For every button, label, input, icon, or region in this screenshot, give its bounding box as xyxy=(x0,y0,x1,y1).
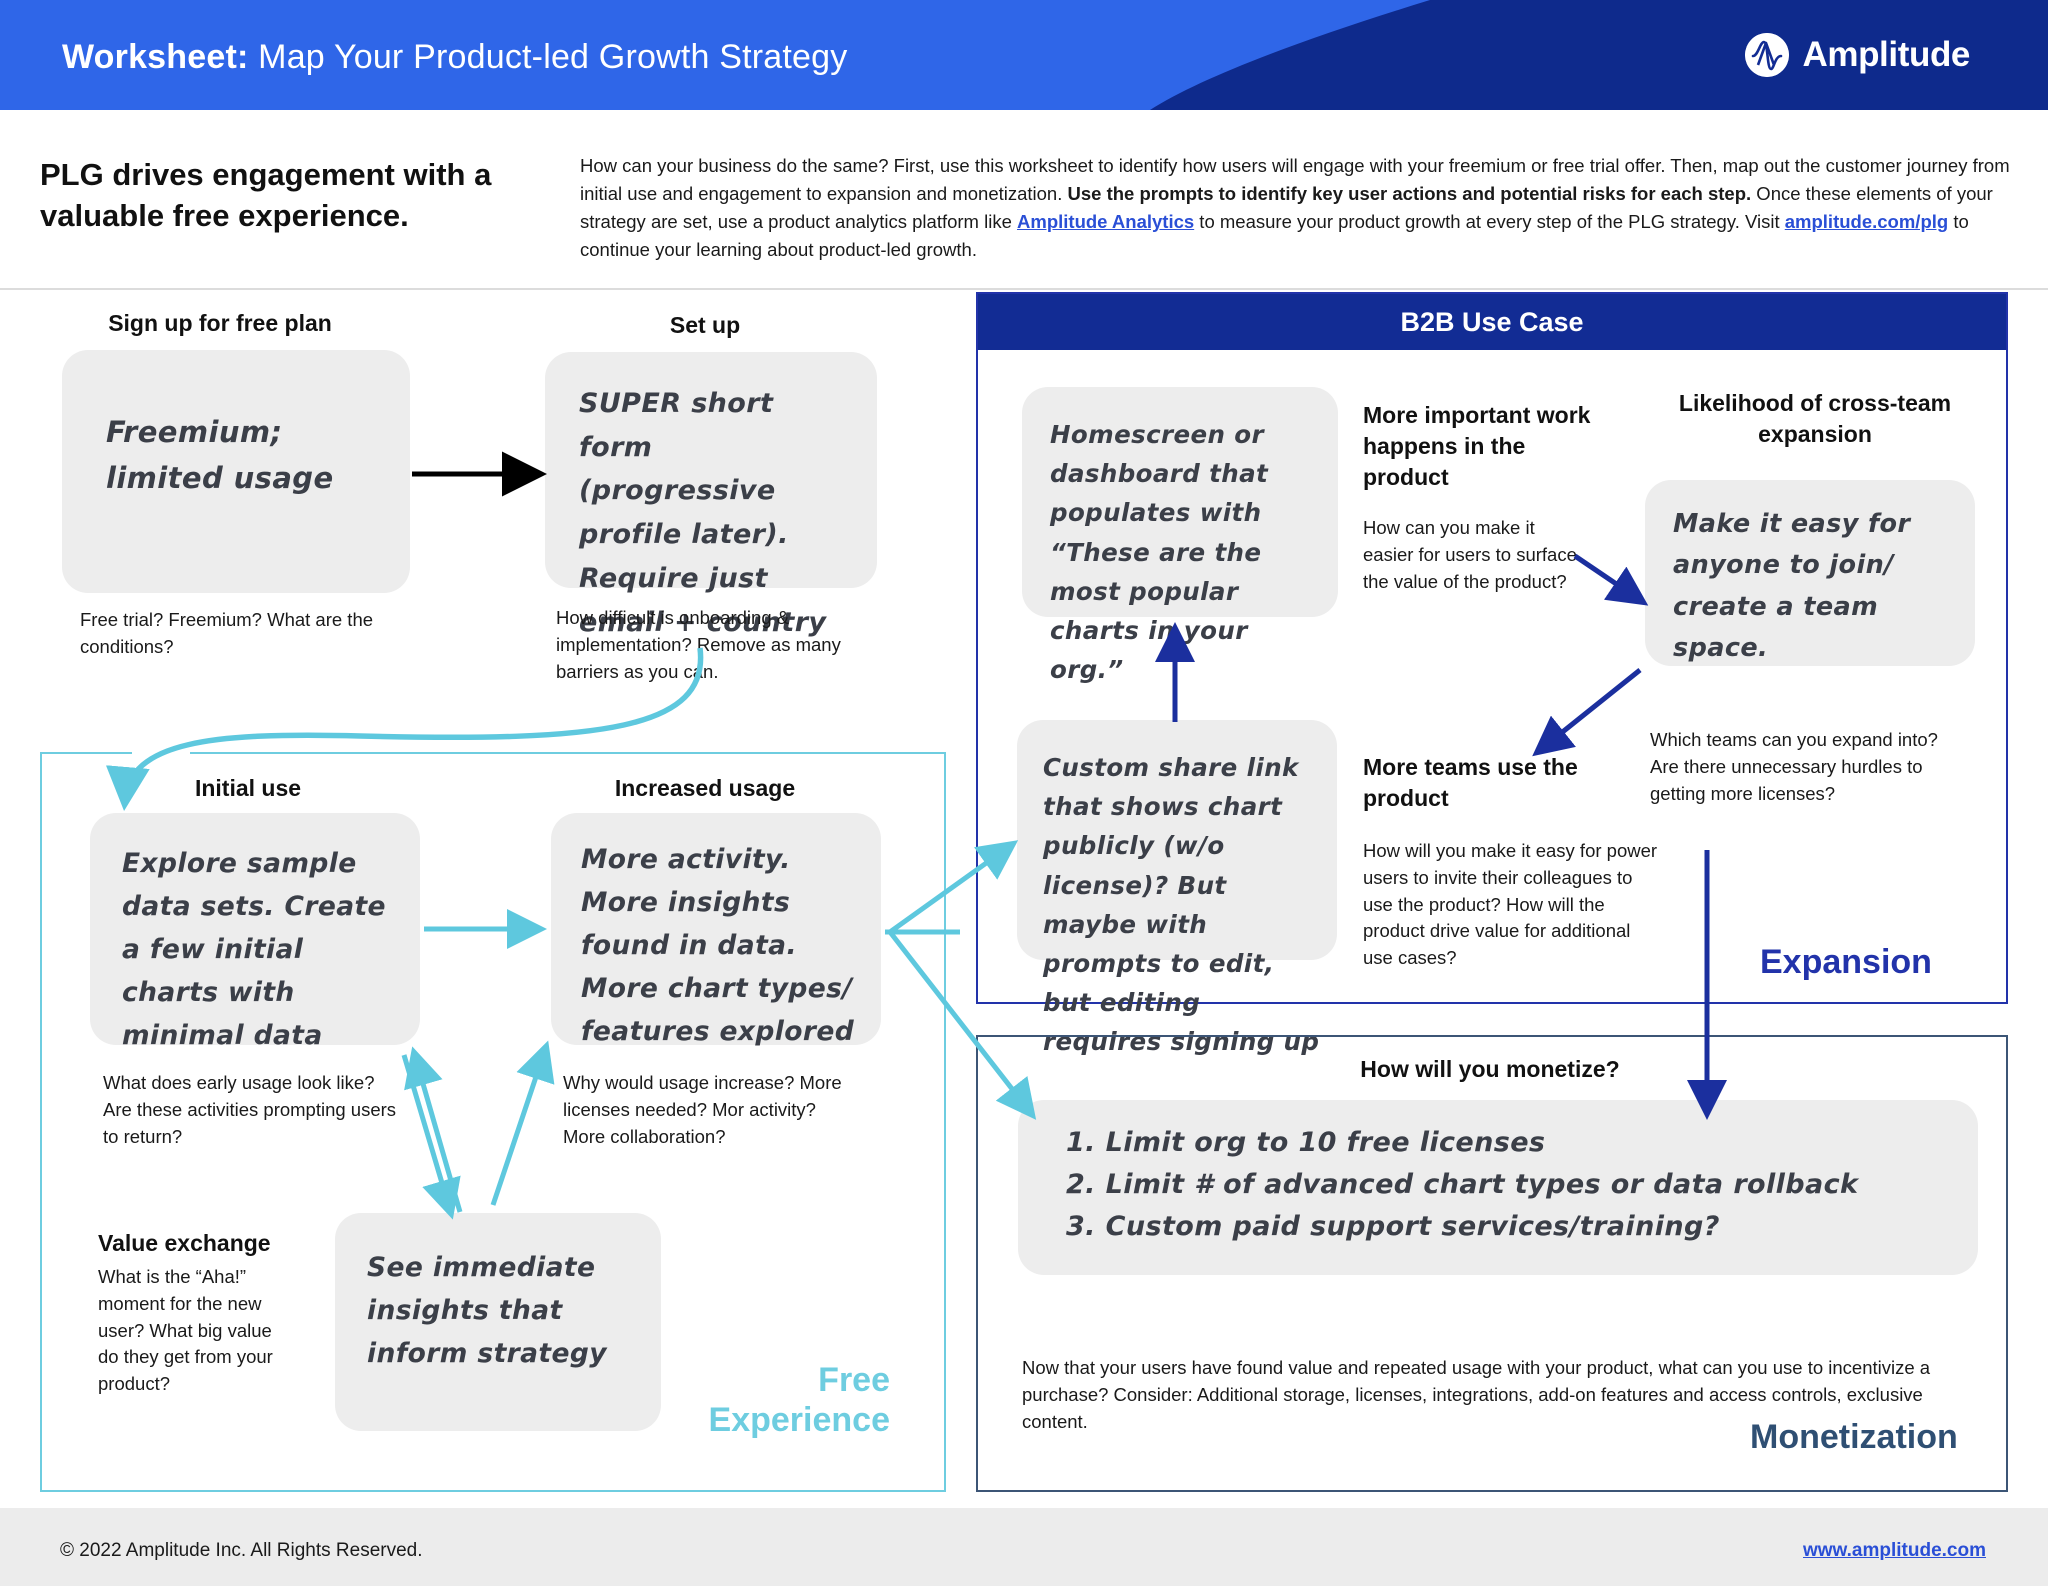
note-box-freemium: Freemium; limited usage xyxy=(62,350,410,593)
amplitude-logo-icon xyxy=(1745,33,1789,77)
monetization-list-item: 2. Limit # of advanced chart types or da… xyxy=(1066,1164,1946,1206)
amplitude-logo-text: Amplitude xyxy=(1802,33,1970,77)
note-box-share-link: Custom share link that shows chart publi… xyxy=(1017,720,1337,960)
stage-label-expansion: Expansion xyxy=(1760,943,1932,982)
stage-label-monetization: Monetization xyxy=(1750,1418,1958,1457)
link-amplitude-plg[interactable]: amplitude.com/plg xyxy=(1785,211,1948,232)
prompt-initial-use: What does early usage look like? Are the… xyxy=(103,1070,403,1150)
note-text-share-link: Custom share link that shows chart publi… xyxy=(1043,748,1327,1062)
intro-headline: PLG drives engagement with a valuable fr… xyxy=(40,155,570,237)
monetization-list-item: 3. Custom paid support services/training… xyxy=(1066,1206,1946,1248)
prompt-signup: Free trial? Freemium? What are the condi… xyxy=(80,607,400,661)
note-text-team-space: Make it easy for anyone to join/ create … xyxy=(1673,504,1953,669)
subsection-title-likelihood-expansion: Likelihood of cross-team expansion xyxy=(1650,388,1980,450)
prompt-value-exchange: What is the “Aha!” moment for the new us… xyxy=(98,1264,288,1398)
step-title-increased-usage: Increased usage xyxy=(555,775,855,802)
prompt-more-teams: How will you make it easy for power user… xyxy=(1363,838,1663,972)
note-text-homescreen: Homescreen or dashboard that populates w… xyxy=(1050,415,1328,689)
stage-label-free-experience: Free Experience xyxy=(600,1360,890,1440)
note-text-increased-usage: More activity. More insights found in da… xyxy=(581,839,861,1054)
intro-body: How can your business do the same? First… xyxy=(580,152,2010,264)
step-title-initial-use: Initial use xyxy=(98,775,398,802)
footer-copyright: © 2022 Amplitude Inc. All Rights Reserve… xyxy=(60,1540,423,1562)
subsection-title-value-exchange: Value exchange xyxy=(98,1228,358,1259)
section-title-monetize: How will you monetize? xyxy=(1170,1056,1810,1083)
page-header: Worksheet: Map Your Product-led Growth S… xyxy=(0,0,2048,110)
prompt-likelihood-expansion: Which teams can you expand into? Are the… xyxy=(1650,727,1940,807)
prompt-setup: How difficult is onboarding & implementa… xyxy=(556,605,856,685)
note-box-team-space: Make it easy for anyone to join/ create … xyxy=(1645,480,1975,666)
intro-body-emphasis: Use the prompts to identify key user act… xyxy=(1068,183,1752,204)
note-box-initial-use: Explore sample data sets. Create a few i… xyxy=(90,813,420,1045)
note-box-setup: SUPER short form (progressive profile la… xyxy=(545,352,877,588)
note-text-initial-use: Explore sample data sets. Create a few i… xyxy=(122,843,394,1058)
note-text-freemium: Freemium; limited usage xyxy=(106,410,376,502)
monetization-list-item: 1. Limit org to 10 free licenses xyxy=(1066,1122,1946,1164)
note-text-value-exchange: See immediate insights that inform strat… xyxy=(367,1247,629,1376)
step-title-setup: Set up xyxy=(545,312,865,339)
worksheet-page: Worksheet: Map Your Product-led Growth S… xyxy=(0,0,2048,1586)
page-title: Worksheet: Map Your Product-led Growth S… xyxy=(62,38,847,77)
subsection-title-more-important-work: More important work happens in the produ… xyxy=(1363,400,1613,493)
b2b-header: B2B Use Case xyxy=(978,294,2006,350)
intro-body-part3: to measure your product growth at every … xyxy=(1194,211,1785,232)
panel-border-gap xyxy=(132,748,190,758)
step-title-signup: Sign up for free plan xyxy=(60,310,380,337)
note-box-homescreen: Homescreen or dashboard that populates w… xyxy=(1022,387,1338,617)
footer-website-link[interactable]: www.amplitude.com xyxy=(1803,1540,1986,1562)
prompt-more-important-work: How can you make it easier for users to … xyxy=(1363,515,1578,595)
amplitude-logo: Amplitude xyxy=(1745,33,1970,77)
note-box-increased-usage: More activity. More insights found in da… xyxy=(551,813,881,1045)
monetization-list: 1. Limit org to 10 free licenses 2. Limi… xyxy=(1066,1122,1946,1248)
link-amplitude-analytics[interactable]: Amplitude Analytics xyxy=(1017,211,1194,232)
note-box-monetization: 1. Limit org to 10 free licenses 2. Limi… xyxy=(1018,1100,1978,1275)
subsection-title-more-teams: More teams use the product xyxy=(1363,752,1613,814)
header-divider xyxy=(0,288,2048,290)
prompt-increased-usage: Why would usage increase? More licenses … xyxy=(563,1070,853,1150)
